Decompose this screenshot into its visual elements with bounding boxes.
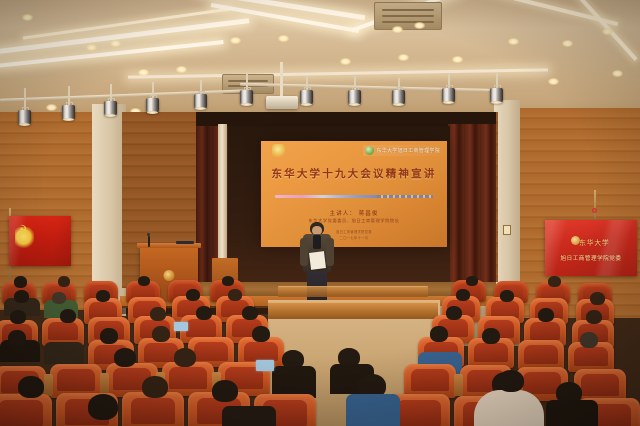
slide-speaker-line: 主讲人： 蒋昌俊 bbox=[261, 209, 447, 217]
ac-vent bbox=[374, 2, 442, 30]
downlight bbox=[86, 44, 97, 51]
audience-head bbox=[174, 348, 196, 367]
audience-head bbox=[14, 276, 27, 288]
presenter-shirt bbox=[313, 235, 321, 249]
audience-laptop[interactable] bbox=[174, 322, 188, 331]
slide-logo: 东华大学旭日工商管理学院 bbox=[363, 145, 442, 156]
audience-head bbox=[456, 289, 470, 301]
audience-head bbox=[142, 376, 168, 398]
presenter-arm-left bbox=[300, 238, 308, 266]
flag-sheen bbox=[9, 216, 71, 266]
audience-head bbox=[212, 380, 238, 402]
exit-sign bbox=[503, 225, 511, 235]
audience-shoulders bbox=[44, 342, 84, 364]
audience-head bbox=[446, 306, 462, 320]
projection-screen: 东华大学旭日工商管理学院 东华大学十九大会议精神宣讲 主讲人： 蒋昌俊 东华大学… bbox=[261, 141, 447, 247]
downlight bbox=[340, 58, 351, 65]
downlight bbox=[508, 38, 519, 45]
audience-head bbox=[10, 310, 26, 324]
ceiling-projector bbox=[266, 96, 298, 109]
audience-head bbox=[114, 348, 136, 367]
audience-head bbox=[58, 276, 70, 287]
audience-head bbox=[52, 292, 66, 304]
audience-shoulders bbox=[222, 406, 276, 426]
audience-head bbox=[100, 328, 118, 344]
audience-head bbox=[252, 326, 270, 342]
audience-head bbox=[430, 326, 448, 342]
audience-head bbox=[8, 330, 26, 346]
downlight bbox=[22, 14, 33, 21]
department-banner: 东华大学 旭日工商管理学院党委 bbox=[545, 220, 637, 276]
audience-head bbox=[590, 292, 605, 305]
slide-title: 东华大学十九大会议精神宣讲 bbox=[261, 166, 447, 181]
banner-sheen bbox=[545, 220, 637, 276]
audience-head bbox=[14, 290, 29, 303]
cpc-party-flag bbox=[9, 216, 71, 266]
auditorium-seat[interactable] bbox=[162, 362, 214, 396]
audience-head bbox=[88, 394, 118, 420]
audience-head bbox=[152, 326, 170, 342]
seat-armrest bbox=[454, 374, 463, 396]
slide-affiliation: 东华大学党委委员、旭日工商管理学院院长 bbox=[261, 218, 447, 224]
auditorium-seat[interactable] bbox=[0, 394, 52, 426]
projector-mount bbox=[280, 62, 283, 96]
auditorium-seat[interactable] bbox=[404, 364, 456, 398]
downlight bbox=[548, 78, 559, 85]
presenter-arm-right bbox=[326, 238, 334, 266]
audience-head bbox=[242, 306, 258, 320]
downlight bbox=[602, 28, 613, 35]
downlight bbox=[230, 37, 241, 44]
row-desk bbox=[278, 286, 428, 297]
downlight bbox=[562, 40, 573, 47]
slide-footer-line-2: 二〇一七年十一月 bbox=[261, 235, 447, 240]
audience-head bbox=[186, 289, 200, 301]
auditorium-seat[interactable] bbox=[518, 340, 564, 370]
audience-head bbox=[466, 276, 478, 286]
downlight bbox=[452, 56, 463, 63]
audience-head bbox=[18, 376, 44, 398]
audience-head bbox=[196, 306, 212, 320]
audience-shoulders bbox=[474, 390, 544, 426]
audience-head bbox=[580, 332, 598, 348]
slide-logo-disc bbox=[365, 146, 374, 155]
audience-laptop[interactable] bbox=[256, 360, 274, 371]
audience-head bbox=[538, 308, 554, 322]
audience-head bbox=[586, 310, 602, 324]
presenter-papers bbox=[309, 251, 326, 270]
audience-head bbox=[548, 276, 561, 287]
audience-head bbox=[150, 307, 166, 321]
slide-decor-mark bbox=[272, 144, 285, 157]
downlight bbox=[46, 104, 57, 111]
row-desk bbox=[268, 302, 438, 319]
audience-shoulders bbox=[346, 394, 400, 426]
podium-laptop bbox=[176, 241, 194, 244]
downlight bbox=[110, 40, 121, 47]
microphone-head-icon bbox=[147, 233, 150, 236]
downlight bbox=[176, 66, 187, 73]
auditorium-scene: 东华大学旭日工商管理学院 东华大学十九大会议精神宣讲 主讲人： 蒋昌俊 东华大学… bbox=[0, 0, 640, 426]
audience-head bbox=[96, 290, 110, 302]
slide-divider-bar bbox=[275, 195, 379, 198]
seat-armrest bbox=[44, 374, 53, 396]
right-banner-cord bbox=[594, 190, 596, 222]
audience-head bbox=[498, 370, 524, 392]
seat-armrest bbox=[100, 373, 109, 395]
audience-head bbox=[500, 290, 514, 302]
slide-divider-dashes bbox=[377, 195, 433, 198]
audience-shoulders bbox=[546, 400, 598, 426]
downlight bbox=[612, 70, 623, 77]
downlight bbox=[392, 26, 403, 33]
podium-microphone bbox=[148, 236, 150, 247]
slide-logo-text: 东华大学旭日工商管理学院 bbox=[376, 147, 440, 154]
audience-head bbox=[482, 328, 500, 344]
downlight bbox=[278, 35, 289, 42]
downlight bbox=[414, 22, 425, 29]
downlight bbox=[138, 69, 149, 76]
slide-footer-line-1: 旭日工商管理学院党委 bbox=[261, 229, 447, 234]
banner-knob bbox=[592, 208, 597, 213]
audience-head bbox=[138, 276, 150, 286]
audience-head bbox=[60, 309, 76, 323]
stage-curtain-right bbox=[448, 124, 496, 290]
audience-head bbox=[222, 276, 234, 286]
downlight bbox=[398, 54, 409, 61]
audience-head bbox=[228, 289, 242, 301]
audience-area bbox=[0, 276, 640, 426]
